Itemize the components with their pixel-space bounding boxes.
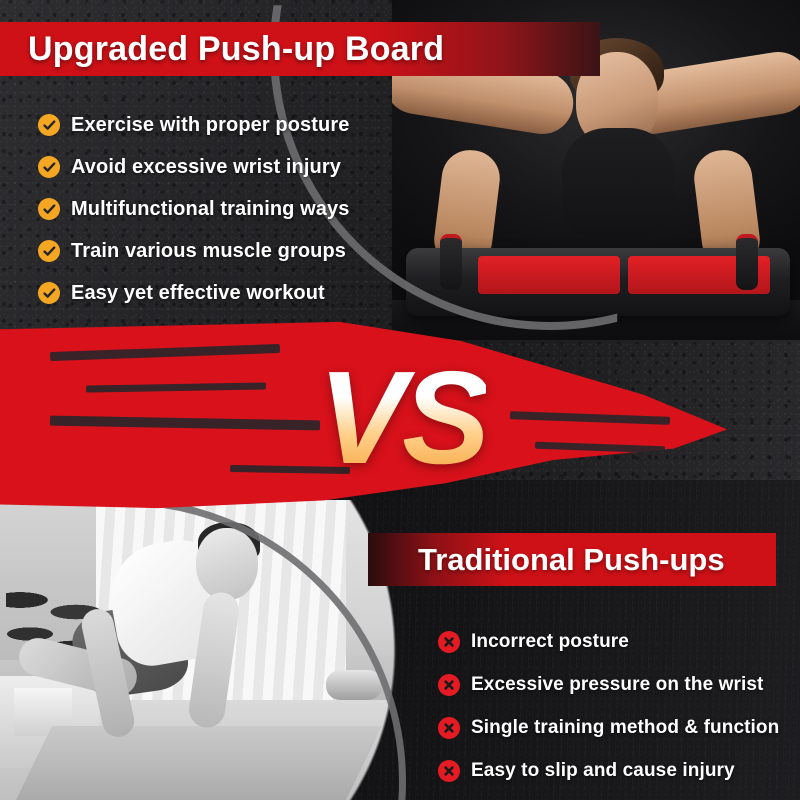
list-item-label: Avoid excessive wrist injury <box>71 156 341 179</box>
brush-texture-chip <box>50 416 320 431</box>
list-item-label: Easy to slip and cause injury <box>471 760 735 782</box>
list-item-label: Multifunctional training ways <box>71 198 349 221</box>
list-item-label: Train various muscle groups <box>71 240 346 263</box>
cross-circle-icon <box>438 760 460 782</box>
product-comparison-poster: Upgraded Push-up Board Exercise with pro… <box>0 0 800 800</box>
cross-circle-icon <box>438 674 460 696</box>
check-circle-icon <box>38 198 60 220</box>
check-circle-icon <box>38 114 60 136</box>
benefits-list: Exercise with proper posture Avoid exces… <box>38 104 388 314</box>
list-item-label: Exercise with proper posture <box>71 114 349 137</box>
brush-texture-chip <box>50 344 280 361</box>
traditional-title: Traditional Push-ups <box>418 536 725 584</box>
list-item: Excessive pressure on the wrist <box>438 663 788 706</box>
list-item-label: Single training method & function <box>471 717 779 739</box>
upgraded-title: Upgraded Push-up Board <box>28 24 444 74</box>
brush-texture-chip <box>86 382 266 392</box>
list-item: Single training method & function <box>438 706 788 749</box>
versus-label: VS <box>318 352 486 484</box>
list-item: Avoid excessive wrist injury <box>38 146 388 188</box>
board-handle-right <box>736 234 758 290</box>
brush-texture-chip <box>510 411 670 425</box>
list-item-label: Incorrect posture <box>471 631 629 653</box>
list-item: Multifunctional training ways <box>38 188 388 230</box>
list-item: Easy to slip and cause injury <box>438 749 788 792</box>
cross-circle-icon <box>438 717 460 739</box>
list-item-label: Excessive pressure on the wrist <box>471 674 763 696</box>
check-circle-icon <box>38 282 60 304</box>
list-item-label: Easy yet effective workout <box>71 282 325 305</box>
check-circle-icon <box>38 240 60 262</box>
list-item: Easy yet effective workout <box>38 272 388 314</box>
cross-circle-icon <box>438 631 460 653</box>
list-item: Exercise with proper posture <box>38 104 388 146</box>
list-item: Incorrect posture <box>438 620 788 663</box>
list-item: Train various muscle groups <box>38 230 388 272</box>
drawbacks-list: Incorrect posture Excessive pressure on … <box>438 620 788 792</box>
brush-texture-chip <box>535 442 665 454</box>
check-circle-icon <box>38 156 60 178</box>
